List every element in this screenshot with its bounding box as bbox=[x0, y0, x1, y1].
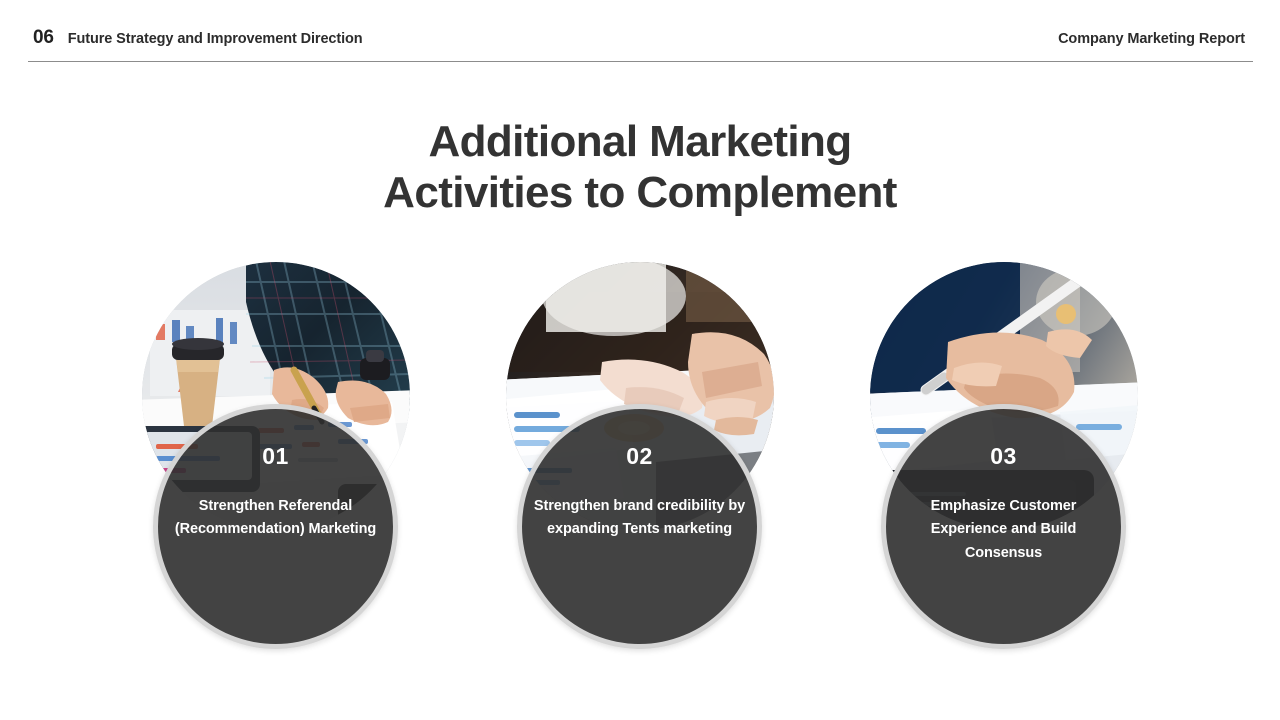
slide: 06 Future Strategy and Improvement Direc… bbox=[0, 0, 1280, 720]
card-text: Emphasize Customer Experience and Build … bbox=[896, 495, 1111, 565]
card-info-circle[interactable]: 02 Strengthen brand credibility by expan… bbox=[517, 404, 762, 649]
card-info-circle[interactable]: 01 Strengthen Referendal (Recommendation… bbox=[153, 404, 398, 649]
card-item[interactable]: 01 Strengthen Referendal (Recommendation… bbox=[125, 0, 425, 720]
card-item[interactable]: 02 Strengthen brand credibility by expan… bbox=[489, 0, 789, 720]
card-number: 03 bbox=[990, 445, 1017, 468]
card-text: Strengthen brand credibility by expandin… bbox=[532, 495, 747, 542]
card-number: 02 bbox=[626, 445, 653, 468]
card-text: Strengthen Referendal (Recommendation) M… bbox=[168, 495, 383, 542]
card-number: 01 bbox=[262, 445, 289, 468]
card-group: 01 Strengthen Referendal (Recommendation… bbox=[0, 0, 1280, 720]
card-item[interactable]: 03 Emphasize Customer Experience and Bui… bbox=[853, 0, 1153, 720]
card-info-circle[interactable]: 03 Emphasize Customer Experience and Bui… bbox=[881, 404, 1126, 649]
